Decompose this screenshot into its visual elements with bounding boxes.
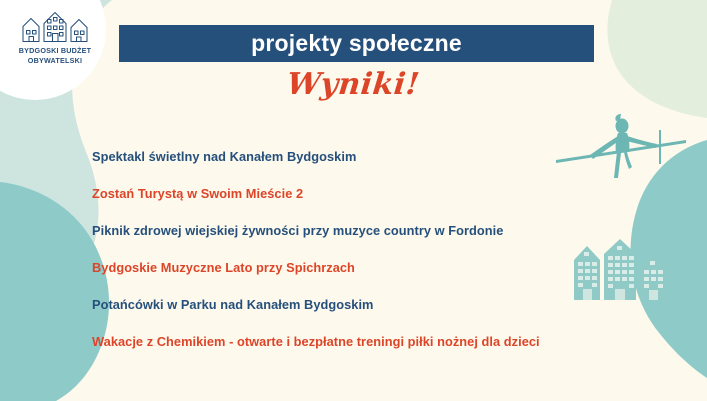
- list-item: Bydgoskie Muzyczne Lato przy Spichrzach: [92, 249, 652, 286]
- logo-inner: BYDGOSKI BUDŻET OBYWATELSKI: [16, 10, 94, 84]
- logo-wordmark-line2: OBYWATELSKI: [19, 56, 91, 66]
- list-item: Spektakl świetlny nad Kanałem Bydgoskim: [92, 138, 652, 175]
- top-right-green-wave: [607, 0, 707, 118]
- list-item: Wakacje z Chemikiem - otwarte i bezpłatn…: [92, 323, 652, 360]
- subtitle: Wyniki!: [0, 70, 707, 100]
- list-item: Piknik zdrowej wiejskiej żywności przy m…: [92, 212, 652, 249]
- slide-canvas: BYDGOSKI BUDŻET OBYWATELSKI projekty spo…: [0, 0, 707, 401]
- three-gabled-buildings-outline-icon: [20, 10, 90, 44]
- title-banner: projekty społeczne: [119, 25, 594, 62]
- list-item: Potańcówki w Parku nad Kanałem Bydgoskim: [92, 286, 652, 323]
- logo-wordmark: BYDGOSKI BUDŻET OBYWATELSKI: [19, 46, 91, 65]
- list-item: Zostań Turystą w Swoim Mieście 2: [92, 175, 652, 212]
- subtitle-text: Wyniki!: [286, 70, 422, 100]
- results-list: Spektakl świetlny nad Kanałem Bydgoskim …: [92, 138, 652, 360]
- page-title: projekty społeczne: [251, 32, 462, 55]
- logo-wordmark-line1: BYDGOSKI BUDŻET: [19, 46, 91, 56]
